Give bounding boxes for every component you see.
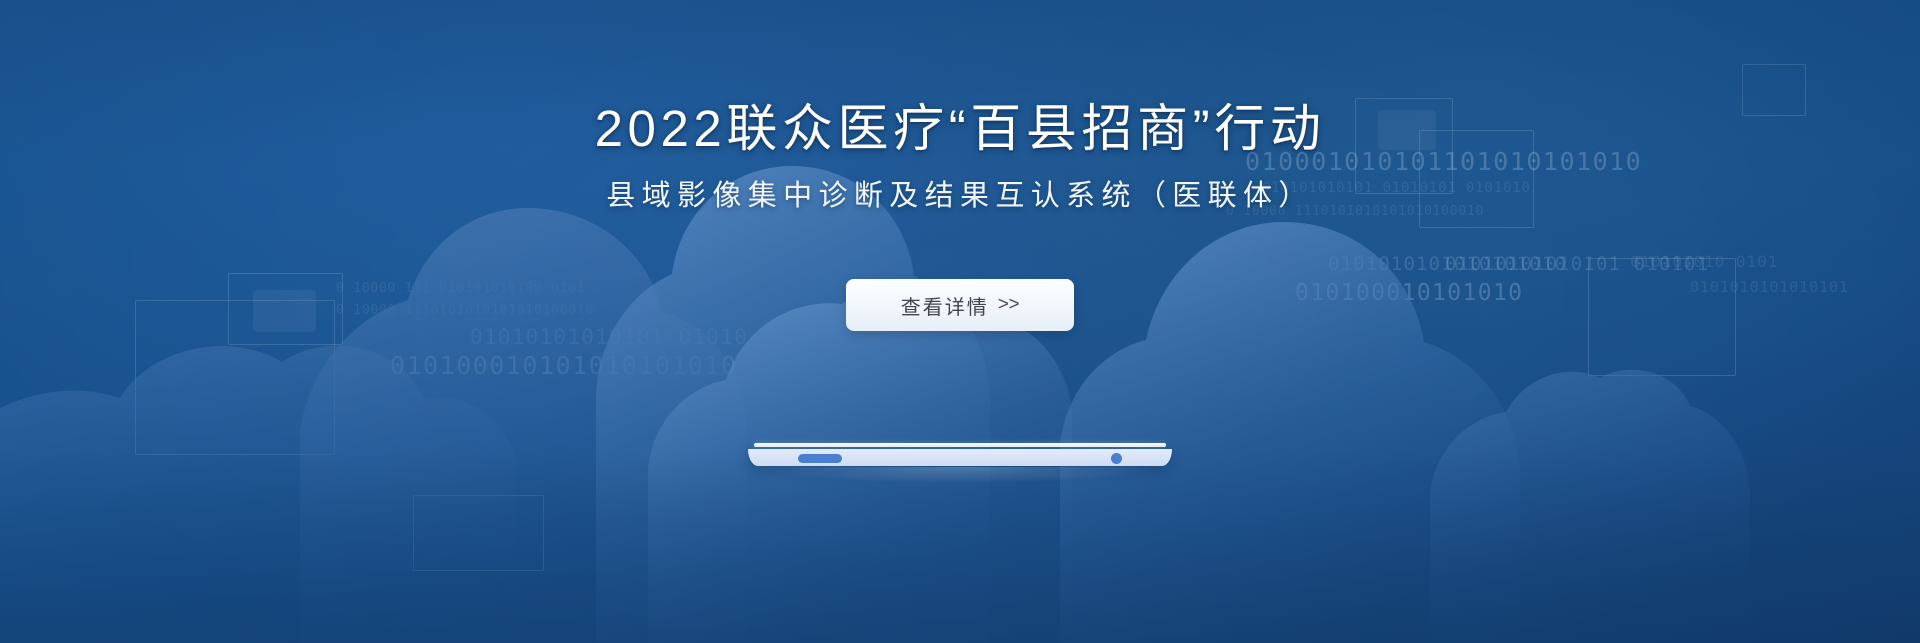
device-indicator-dot [1111, 453, 1122, 464]
device-speaker-pill [798, 454, 842, 463]
view-details-label: 查看详情 [901, 291, 989, 320]
device-reflection-glow [760, 467, 1160, 483]
device-base-illustration [748, 443, 1172, 469]
view-details-button[interactable]: 查看详情 >> [846, 279, 1074, 331]
double-chevron-right-icon: >> [998, 294, 1019, 316]
banner-sub-title: 县域影像集中诊断及结果互认系统（医联体） [0, 154, 1920, 211]
banner-main-title: 2022联众医疗“百县招商”行动 [0, 0, 1920, 154]
device-screen-edge [754, 443, 1166, 447]
banner-content: 2022联众医疗“百县招商”行动 县域影像集中诊断及结果互认系统（医联体） 查看… [0, 0, 1920, 331]
cta-container: 查看详情 >> [0, 279, 1920, 331]
promo-banner: 0 10000 111 010101010100 0101 0 10000 11… [0, 0, 1920, 643]
